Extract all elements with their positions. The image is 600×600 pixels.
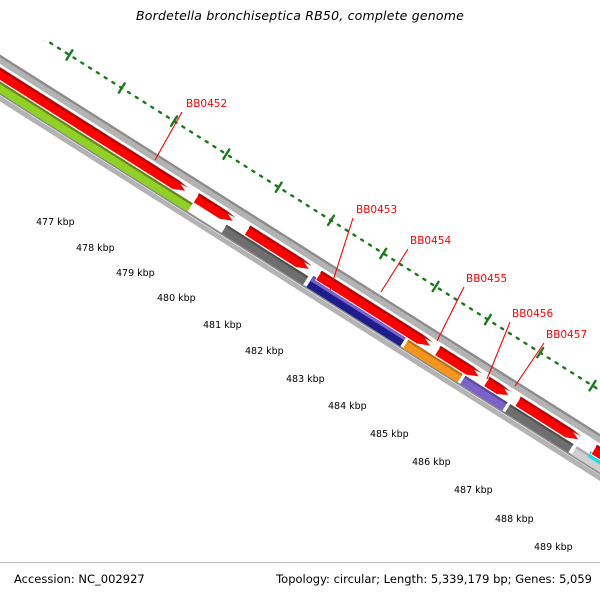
ruler-tick bbox=[328, 216, 334, 225]
ruler-tick-label: 486 kbp bbox=[412, 457, 451, 468]
genome-viewer: Bordetella bronchiseptica RB50, complete… bbox=[0, 0, 600, 600]
gene-label-text[interactable]: BB0456 bbox=[512, 308, 553, 320]
gene-label-BB0454[interactable]: BB0454 bbox=[381, 235, 451, 292]
ruler-tick-label: 489 kbp bbox=[534, 542, 573, 553]
ruler-tick-label: 485 kbp bbox=[370, 429, 409, 440]
gene-label-BB0455[interactable]: BB0455 bbox=[437, 273, 507, 341]
ruler-tick-label: 487 kbp bbox=[454, 485, 493, 496]
backbone-track bbox=[0, 15, 600, 523]
gene-labels[interactable]: BB0452BB0453BB0454BB0455BB0456BB0457 bbox=[155, 98, 587, 386]
gene-label-text[interactable]: BB0457 bbox=[546, 329, 587, 341]
gene-label-text[interactable]: BB0454 bbox=[410, 235, 451, 247]
ruler-tick-label: 488 kbp bbox=[495, 514, 534, 525]
genome-diagram-canvas[interactable]: 477 kbp478 kbp479 kbp480 kbp481 kbp482 k… bbox=[0, 0, 600, 600]
ruler-tick-label: 477 kbp bbox=[36, 217, 75, 228]
gene-label-BB0457[interactable]: BB0457 bbox=[515, 329, 587, 386]
ruler-tick-label: 484 kbp bbox=[328, 401, 367, 412]
leader-line bbox=[515, 343, 544, 386]
gene-label-text[interactable]: BB0452 bbox=[186, 98, 227, 110]
gene-label-text[interactable]: BB0455 bbox=[466, 273, 507, 285]
ruler-tick bbox=[14, 17, 20, 26]
ruler-tick-label: 478 kbp bbox=[76, 243, 115, 254]
ruler-tick-label: 482 kbp bbox=[245, 346, 284, 357]
ruler-tick bbox=[223, 150, 229, 159]
genome-summary-text: Topology: circular; Length: 5,339,179 bp… bbox=[276, 572, 592, 586]
ruler-tick-label: 483 kbp bbox=[286, 374, 325, 385]
gene-label-text[interactable]: BB0453 bbox=[356, 204, 397, 216]
accession-text: Accession: NC_002927 bbox=[14, 572, 145, 586]
coordinate-ruler bbox=[0, 0, 600, 469]
footer-divider bbox=[0, 562, 600, 563]
ruler-dotted-line bbox=[0, 0, 600, 469]
gene-label-BB0452[interactable]: BB0452 bbox=[155, 98, 227, 160]
ruler-tick-label: 481 kbp bbox=[203, 320, 242, 331]
ruler-tick bbox=[433, 282, 439, 291]
ruler-tick-label: 480 kbp bbox=[157, 293, 196, 304]
ruler-tick bbox=[590, 381, 596, 390]
leader-line bbox=[155, 112, 182, 160]
ruler-tick-label: 479 kbp bbox=[116, 268, 155, 279]
leader-line bbox=[437, 287, 464, 341]
